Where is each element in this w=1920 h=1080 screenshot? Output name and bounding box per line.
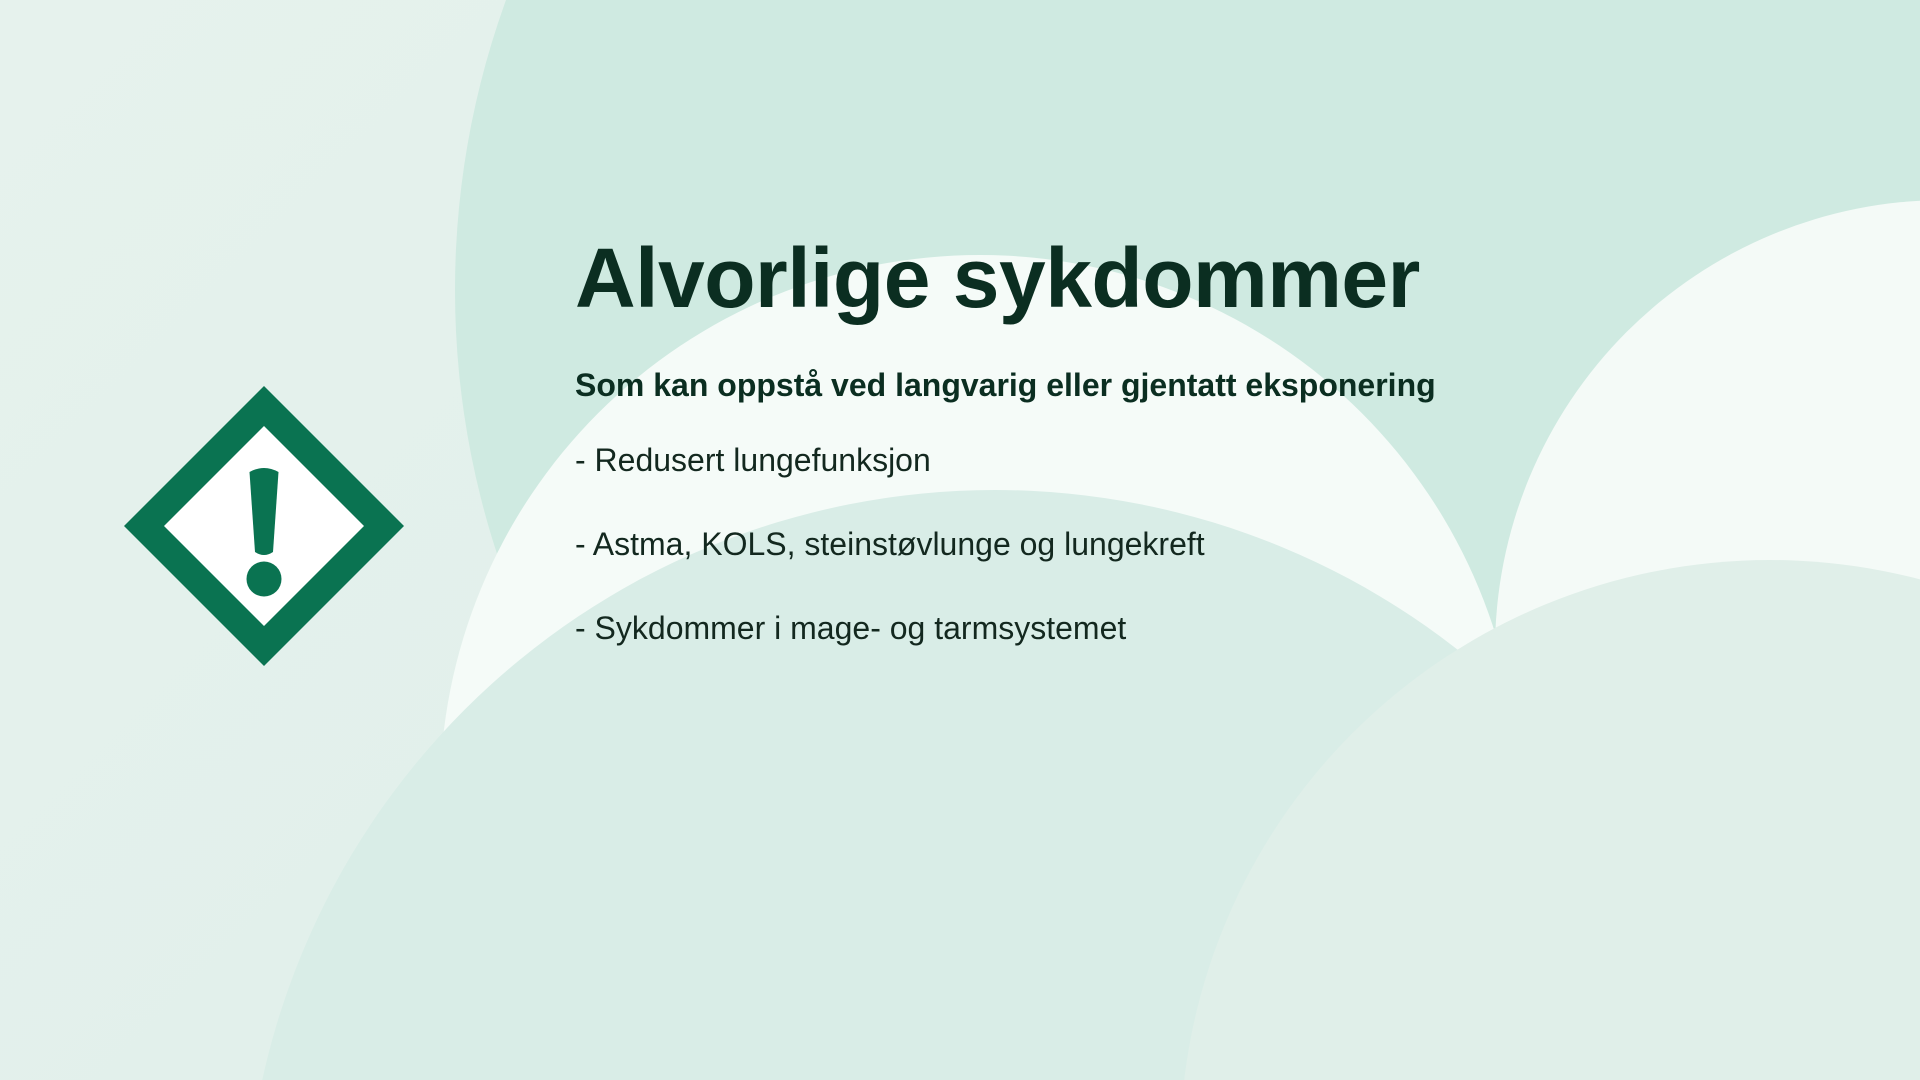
presentation-slide: Alvorlige sykdommer Som kan oppstå ved l… (0, 0, 1920, 1080)
list-item: - Sykdommer i mage- og tarmsystemet (575, 608, 1755, 648)
bullet-list: - Redusert lungefunksjon - Astma, KOLS, … (575, 440, 1755, 648)
list-item: - Astma, KOLS, steinstøvlunge og lungekr… (575, 524, 1755, 564)
warning-diamond-exclamation-icon (118, 380, 410, 672)
page-title: Alvorlige sykdommer (575, 236, 1755, 322)
slide-content: Alvorlige sykdommer Som kan oppstå ved l… (575, 236, 1755, 648)
list-item: - Redusert lungefunksjon (575, 440, 1755, 480)
slide-subtitle: Som kan oppstå ved langvarig eller gjent… (575, 366, 1755, 404)
